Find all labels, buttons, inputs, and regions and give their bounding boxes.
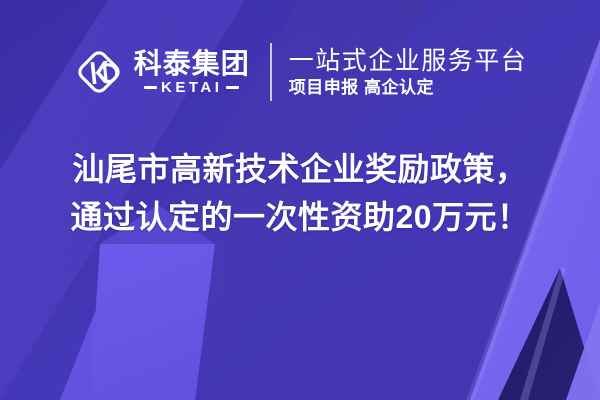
headline-line-1: 汕尾市高新技术企业奖励政策， (72, 148, 527, 190)
banner-header: 科泰集团 KETAI 一站式企业服务平台 项目申报 高企认定 (0, 36, 600, 108)
ketai-diamond-kd-logo-icon (73, 46, 125, 98)
headline-line-2: 通过认定的一次性资助20万元！ (70, 196, 529, 238)
slogan-sub-text: 项目申报 高企认定 (289, 78, 528, 98)
slogan-main-text: 一站式企业服务平台 (289, 47, 528, 75)
headline-block: 汕尾市高新技术企业奖励政策， 通过认定的一次性资助20万元！ (0, 148, 600, 238)
header-vertical-divider (270, 43, 272, 101)
logo-chinese-name: 科泰集团 (134, 49, 250, 79)
company-logo[interactable]: 科泰集团 KETAI (73, 46, 250, 98)
logo-wordmark: 科泰集团 KETAI (134, 49, 250, 95)
slogan-block: 一站式企业服务平台 项目申报 高企认定 (289, 47, 528, 98)
logo-dash-left-icon (144, 86, 157, 89)
logo-dash-right-icon (226, 86, 239, 89)
logo-english-row: KETAI (144, 80, 239, 95)
promo-banner: 科泰集团 KETAI 一站式企业服务平台 项目申报 高企认定 汕尾市高新技术企业… (0, 0, 600, 400)
logo-english-name: KETAI (161, 80, 222, 95)
